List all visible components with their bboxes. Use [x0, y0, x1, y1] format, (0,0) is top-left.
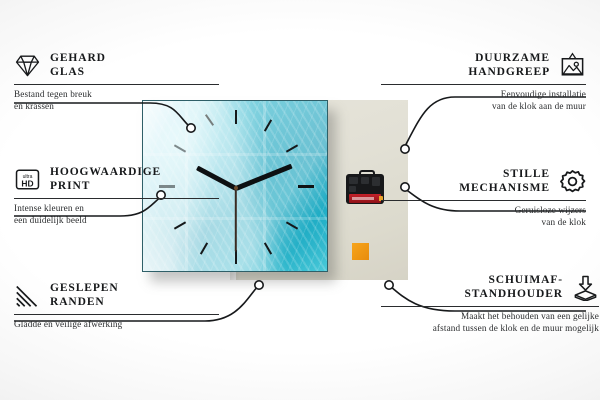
feature-hoogwaardige-print: ultra HD HOOGWAARDIGE PRINT Intense kleu… — [14, 166, 219, 226]
feature-desc-line2: een duidelijk beeld — [14, 215, 219, 227]
feature-title-line1: HOOGWAARDIGE — [50, 166, 161, 180]
feature-desc-line1: Intense kleuren en — [14, 203, 219, 215]
feature-title-line2: PRINT — [50, 180, 161, 194]
feature-title-line1: DUURZAME — [468, 52, 550, 66]
picture-frame-icon — [559, 52, 586, 79]
diamond-icon — [14, 52, 41, 79]
feature-divider — [14, 314, 219, 315]
connector-dot-glass — [187, 124, 195, 132]
diagonal-lines-icon — [14, 282, 41, 309]
feature-desc-line1: Bestand tegen breuk — [14, 89, 219, 101]
connector-dot-handgreep — [401, 145, 409, 153]
feature-stille-mechanisme: STILLE MECHANISME Geruisloze wijzers van… — [381, 168, 586, 228]
feature-duurzame-handgreep: DUURZAME HANDGREEP Eenvoudige installati… — [381, 52, 586, 112]
feature-schuimaf-standhouder: SCHUIMAF- STANDHOUDER Maakt het behouden… — [381, 274, 599, 334]
gear-icon — [559, 168, 586, 195]
feature-desc-line1: Geruisloze wijzers — [381, 205, 586, 217]
feature-divider — [381, 306, 599, 307]
feature-gehard-glas: GEHARD GLAS Bestand tegen breuk en krass… — [14, 52, 219, 112]
svg-text:HD: HD — [21, 178, 33, 188]
infographic-canvas: GEHARD GLAS Bestand tegen breuk en krass… — [0, 0, 600, 400]
feature-title-line2: MECHANISME — [459, 182, 550, 196]
feature-title-line1: GESLEPEN — [50, 282, 119, 296]
feature-geslepen-randen: GESLEPEN RANDEN Gladde en veilige afwerk… — [14, 282, 219, 331]
feature-desc-line2: afstand tussen de klok en de muur mogeli… — [381, 323, 599, 335]
feature-title-line2: RANDEN — [50, 296, 119, 310]
feature-title-line1: GEHARD — [50, 52, 106, 66]
feature-title-line2: GLAS — [50, 66, 106, 80]
feature-title-line2: HANDGREEP — [468, 66, 550, 80]
feature-desc-line2: van de klok aan de muur — [381, 101, 586, 113]
feature-desc-line1: Eenvoudige installatie — [381, 89, 586, 101]
feature-title-line1: SCHUIMAF- — [464, 274, 563, 288]
feature-desc-line2: en krassen — [14, 101, 219, 113]
feature-desc-line2: van de klok — [381, 217, 586, 229]
feature-desc-line1: Maakt het behouden van een gelijke — [381, 311, 599, 323]
spacer-arrow-icon — [572, 274, 599, 301]
connector-dot-edges — [255, 281, 263, 289]
feature-title-line2: STANDHOUDER — [464, 288, 563, 302]
feature-divider — [14, 198, 219, 199]
feature-divider — [381, 84, 586, 85]
feature-title-line1: STILLE — [459, 168, 550, 182]
feature-desc-line1: Gladde en veilige afwerking — [14, 319, 219, 331]
feature-divider — [381, 200, 586, 201]
feature-divider — [14, 84, 219, 85]
ultra-hd-badge-icon: ultra HD — [14, 166, 41, 193]
